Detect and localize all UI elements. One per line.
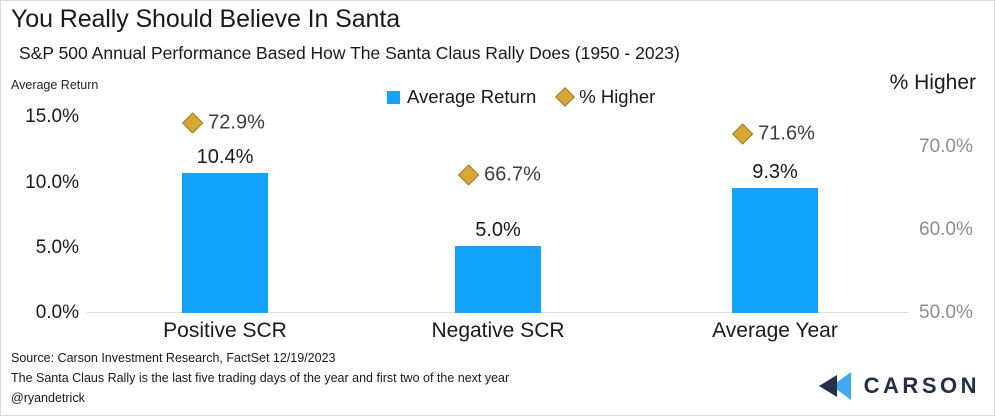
bar-value-label: 10.4% <box>197 146 254 169</box>
footnote-definition: The Santa Claus Rally is the last five t… <box>11 371 509 385</box>
diamond-icon <box>555 87 575 107</box>
bar-positive-scr[interactable]: 10.4% <box>182 173 268 313</box>
legend-item-average-return[interactable]: Average Return <box>387 86 536 108</box>
legend-label: Average Return <box>407 86 536 108</box>
carson-mark-icon <box>818 371 852 401</box>
page-title: You Really Should Believe In Santa <box>11 5 400 34</box>
marker-value-label: 71.6% <box>758 123 815 146</box>
footnote-handle: @ryandetrick <box>11 391 509 405</box>
right-tick-label: 60.0% <box>919 219 973 241</box>
marker-value-label: 72.9% <box>208 112 265 135</box>
right-tick-label: 70.0% <box>919 136 973 158</box>
bar-value-label: 9.3% <box>752 161 798 184</box>
bar-negative-scr[interactable]: 5.0% <box>455 246 541 313</box>
left-axis-title: Average Return <box>11 78 98 92</box>
brand-wordmark: CARSON <box>864 373 980 399</box>
right-axis-title: % Higher <box>890 71 976 95</box>
diamond-icon <box>182 112 203 133</box>
brand-logo: CARSON <box>818 371 980 401</box>
chart-card: You Really Should Believe In Santa S&P 5… <box>0 0 995 416</box>
right-tick-label: 50.0% <box>919 302 973 324</box>
diamond-icon <box>458 164 479 185</box>
plot-area: 15.0% 10.0% 5.0% 0.0% 70.0% 60.0% 50.0% … <box>87 111 909 313</box>
square-icon <box>387 91 400 104</box>
chart-legend: Average Return % Higher <box>387 86 655 108</box>
left-tick-label: 5.0% <box>36 237 79 259</box>
bar-average-year[interactable]: 9.3% <box>732 188 818 313</box>
category-label-positive-scr: Positive SCR <box>163 319 287 343</box>
footnotes: Source: Carson Investment Research, Fact… <box>11 351 509 405</box>
bar-value-label: 5.0% <box>475 219 521 242</box>
marker-negative-scr[interactable]: 66.7% <box>461 164 541 187</box>
marker-value-label: 66.7% <box>484 164 541 187</box>
footnote-source: Source: Carson Investment Research, Fact… <box>11 351 509 365</box>
chart-subtitle: S&P 500 Annual Performance Based How The… <box>19 43 680 64</box>
legend-item-percent-higher[interactable]: % Higher <box>558 86 655 108</box>
left-tick-label: 0.0% <box>36 302 79 324</box>
legend-label: % Higher <box>579 86 655 108</box>
left-tick-label: 15.0% <box>25 106 79 128</box>
category-label-average-year: Average Year <box>712 319 838 343</box>
category-label-negative-scr: Negative SCR <box>431 319 564 343</box>
marker-positive-scr[interactable]: 72.9% <box>185 112 265 135</box>
diamond-icon <box>732 123 753 144</box>
left-tick-label: 10.0% <box>25 172 79 194</box>
marker-average-year[interactable]: 71.6% <box>735 123 815 146</box>
